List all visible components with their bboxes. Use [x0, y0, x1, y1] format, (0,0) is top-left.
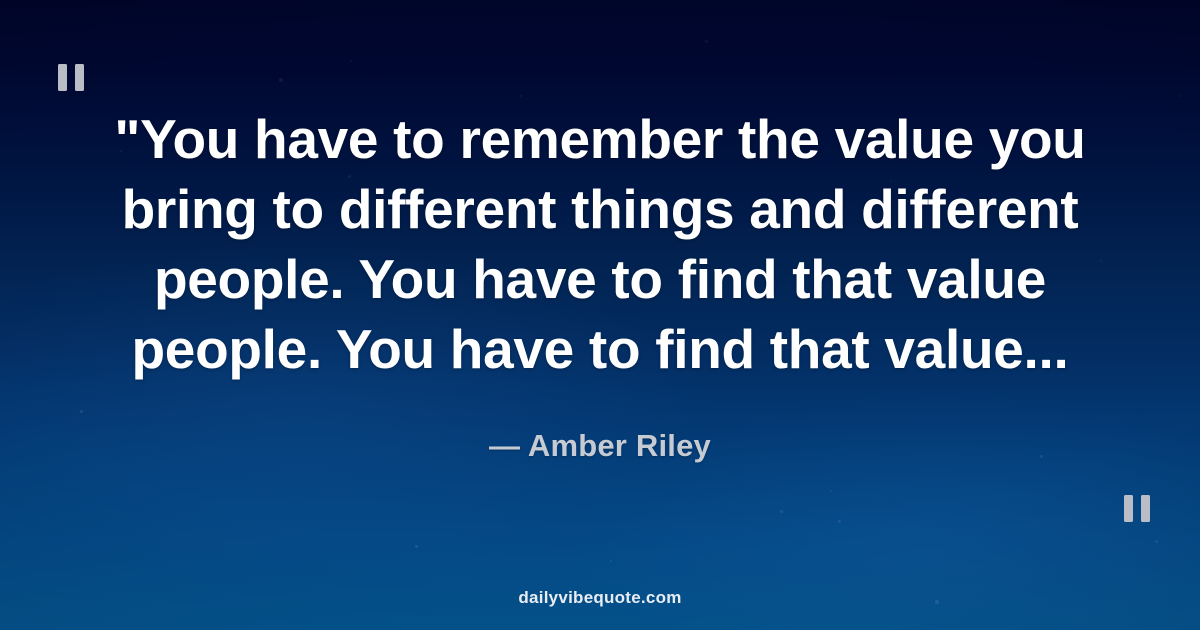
footer: dailyvibequote.com [0, 588, 1200, 608]
quote-bars-icon-bottom-right [1124, 495, 1150, 522]
particle-dot [838, 520, 841, 523]
particle-dot [1155, 540, 1158, 543]
site-name: dailyvibequote.com [518, 588, 681, 607]
quote-attribution: — Amber Riley [70, 384, 1130, 464]
quote-bar [1124, 495, 1133, 522]
particle-dot [610, 560, 612, 562]
quote-card: "You have to remember the value you brin… [0, 0, 1200, 630]
quote-bar [1141, 495, 1150, 522]
particle-dot [415, 545, 418, 548]
particle-dot [830, 490, 832, 492]
particle-dot [780, 510, 783, 513]
quote-text: "You have to remember the value you brin… [80, 104, 1120, 384]
quote-content: "You have to remember the value you brin… [0, 0, 1200, 464]
